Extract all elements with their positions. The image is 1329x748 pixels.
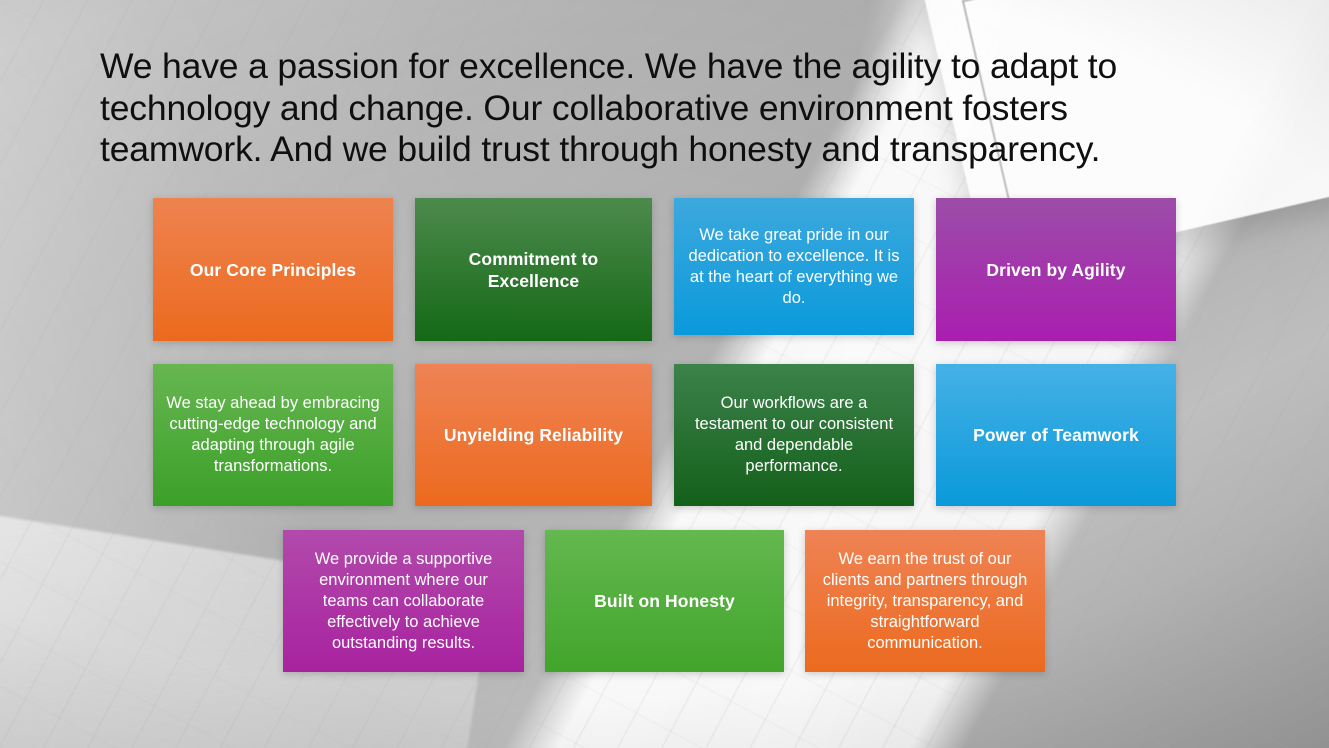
value-card-our-core-principles[interactable]: Our Core Principles [153,198,393,341]
value-card-label: Commitment to Excellence [415,248,652,292]
value-card-label: We stay ahead by embracing cutting-edge … [153,393,393,477]
slide-canvas: We have a passion for excellence. We hav… [0,0,1329,748]
value-card-label: Our workflows are a testament to our con… [674,393,914,477]
value-card-label: We provide a supportive environment wher… [283,549,524,654]
value-card-label: Power of Teamwork [936,424,1176,446]
value-card-excellence-description[interactable]: We take great pride in our dedication to… [674,198,914,335]
value-card-reliability-description[interactable]: Our workflows are a testament to our con… [674,364,914,506]
value-card-label: Our Core Principles [153,259,393,281]
value-card-commitment-to-excellence[interactable]: Commitment to Excellence [415,198,652,341]
value-card-label: Built on Honesty [545,590,784,612]
value-card-label: Driven by Agility [936,259,1176,281]
value-card-agility-description[interactable]: We stay ahead by embracing cutting-edge … [153,364,393,506]
value-card-label: Unyielding Reliability [415,424,652,446]
value-card-built-on-honesty[interactable]: Built on Honesty [545,530,784,672]
value-card-driven-by-agility[interactable]: Driven by Agility [936,198,1176,341]
value-card-honesty-description[interactable]: We earn the trust of our clients and par… [805,530,1045,672]
value-card-label: We earn the trust of our clients and par… [805,549,1045,654]
page-title: We have a passion for excellence. We hav… [100,46,1140,171]
value-card-power-of-teamwork[interactable]: Power of Teamwork [936,364,1176,506]
value-card-label: We take great pride in our dedication to… [674,225,914,309]
value-card-unyielding-reliability[interactable]: Unyielding Reliability [415,364,652,506]
value-card-teamwork-description[interactable]: We provide a supportive environment wher… [283,530,524,672]
